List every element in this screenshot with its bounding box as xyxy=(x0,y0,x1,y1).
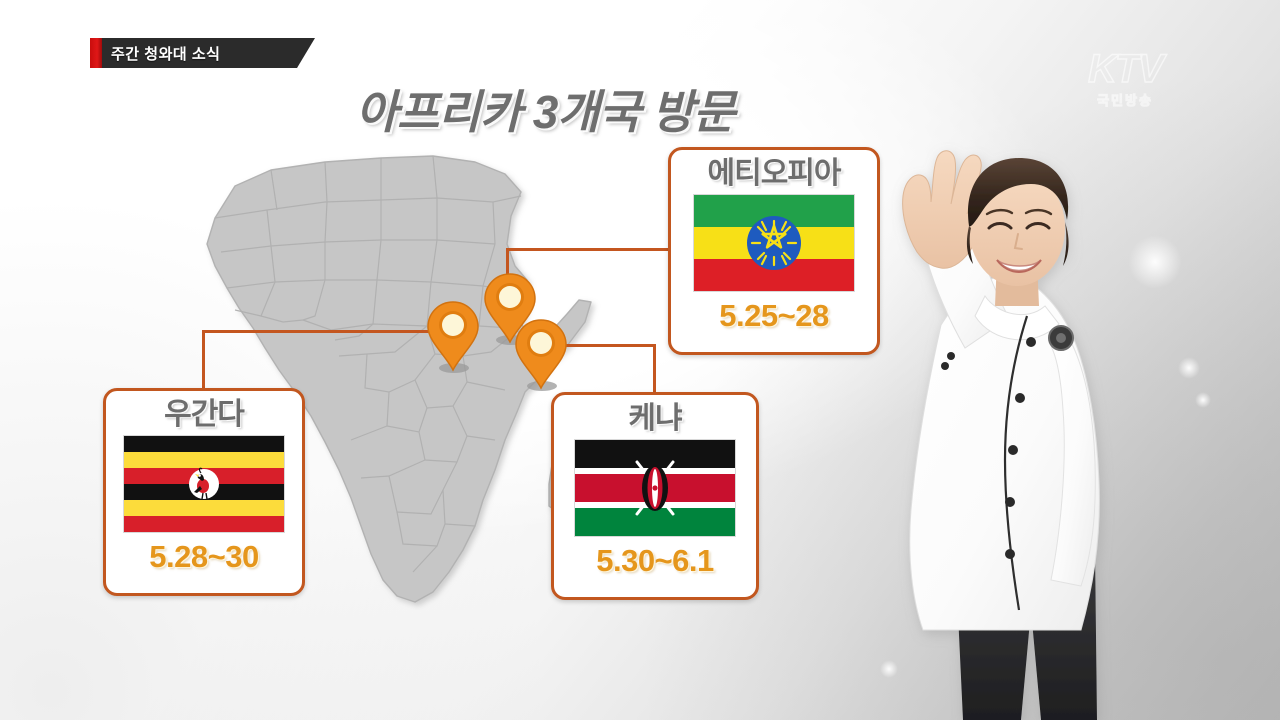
banner-label: 주간 청와대 소식 xyxy=(102,43,220,64)
waving-person-photo xyxy=(845,110,1205,720)
country-name-uganda: 우간다 xyxy=(164,397,244,433)
ktv-logo-text: KTV xyxy=(1055,48,1195,90)
ktv-logo-subtitle: 국민방송 xyxy=(1055,90,1195,109)
connector-uganda-horizontal xyxy=(202,330,452,333)
map-pin-kenya[interactable] xyxy=(512,318,570,392)
country-name-ethiopia: 에티오피아 xyxy=(708,156,841,192)
broadcast-graphic-stage: 주간 청와대 소식 아프리카 3개국 방문 KTV 국민방송 xyxy=(0,0,1280,720)
banner-accent-block xyxy=(90,38,102,68)
connector-ethiopia-horizontal xyxy=(506,248,674,251)
country-name-kenya: 케냐 xyxy=(628,401,681,437)
connector-uganda-vertical xyxy=(202,330,205,390)
country-card-uganda[interactable]: 우간다 5.28~30 xyxy=(103,388,305,596)
country-card-kenya[interactable]: 케냐 5.30~6.1 xyxy=(551,392,759,600)
visit-date-ethiopia: 5.25~28 xyxy=(719,298,828,334)
uganda-flag-icon xyxy=(123,435,285,533)
visit-date-uganda: 5.28~30 xyxy=(149,539,258,575)
headline-text: 아프리카 3개국 방문 xyxy=(356,76,735,142)
connector-kenya-vertical xyxy=(653,344,656,394)
ethiopia-flag-icon xyxy=(693,194,855,292)
ktv-logo-watermark: KTV 국민방송 xyxy=(1055,48,1195,110)
kenya-flag-icon xyxy=(574,439,736,537)
visit-date-kenya: 5.30~6.1 xyxy=(596,543,714,579)
program-banner: 주간 청와대 소식 xyxy=(90,38,315,68)
map-pin-uganda[interactable] xyxy=(424,300,482,374)
